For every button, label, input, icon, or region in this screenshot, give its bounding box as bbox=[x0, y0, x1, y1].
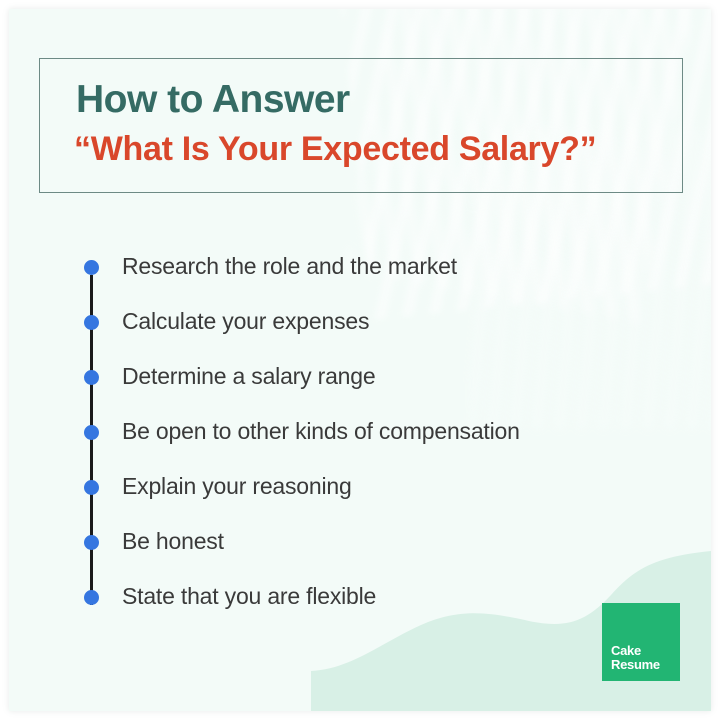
logo-line-2: Resume bbox=[611, 658, 660, 672]
list-item-label: Be honest bbox=[122, 528, 224, 555]
list-item: Research the role and the market bbox=[73, 249, 673, 304]
list-item: Be open to other kinds of compensation bbox=[73, 414, 673, 469]
list-item: Explain your reasoning bbox=[73, 469, 673, 524]
bullet-dot-icon bbox=[84, 425, 99, 440]
list-item-label: Explain your reasoning bbox=[122, 473, 352, 500]
list-item: Be honest bbox=[73, 524, 673, 579]
bullet-dot-icon bbox=[84, 370, 99, 385]
poster-card: How to Answer “What Is Your Expected Sal… bbox=[9, 9, 711, 711]
tips-timeline-list: Research the role and the market Calcula… bbox=[73, 249, 673, 634]
bullet-dot-icon bbox=[84, 480, 99, 495]
title-frame: How to Answer “What Is Your Expected Sal… bbox=[39, 58, 683, 193]
list-item: State that you are flexible bbox=[73, 579, 673, 634]
page-title: How to Answer bbox=[76, 78, 350, 122]
list-item-label: Be open to other kinds of compensation bbox=[122, 418, 520, 445]
list-item-label: Calculate your expenses bbox=[122, 308, 369, 335]
cakeresume-logo: Cake Resume bbox=[602, 603, 680, 681]
bullet-dot-icon bbox=[84, 260, 99, 275]
list-item-label: Determine a salary range bbox=[122, 363, 375, 390]
page-subtitle: “What Is Your Expected Salary?” bbox=[74, 130, 596, 169]
list-item: Calculate your expenses bbox=[73, 304, 673, 359]
list-item: Determine a salary range bbox=[73, 359, 673, 414]
bullet-dot-icon bbox=[84, 590, 99, 605]
list-item-label: State that you are flexible bbox=[122, 583, 376, 610]
bullet-dot-icon bbox=[84, 315, 99, 330]
bullet-dot-icon bbox=[84, 535, 99, 550]
logo-text: Cake Resume bbox=[611, 644, 660, 672]
logo-line-1: Cake bbox=[611, 644, 660, 658]
poster-canvas: How to Answer “What Is Your Expected Sal… bbox=[0, 0, 720, 720]
list-item-label: Research the role and the market bbox=[122, 253, 457, 280]
